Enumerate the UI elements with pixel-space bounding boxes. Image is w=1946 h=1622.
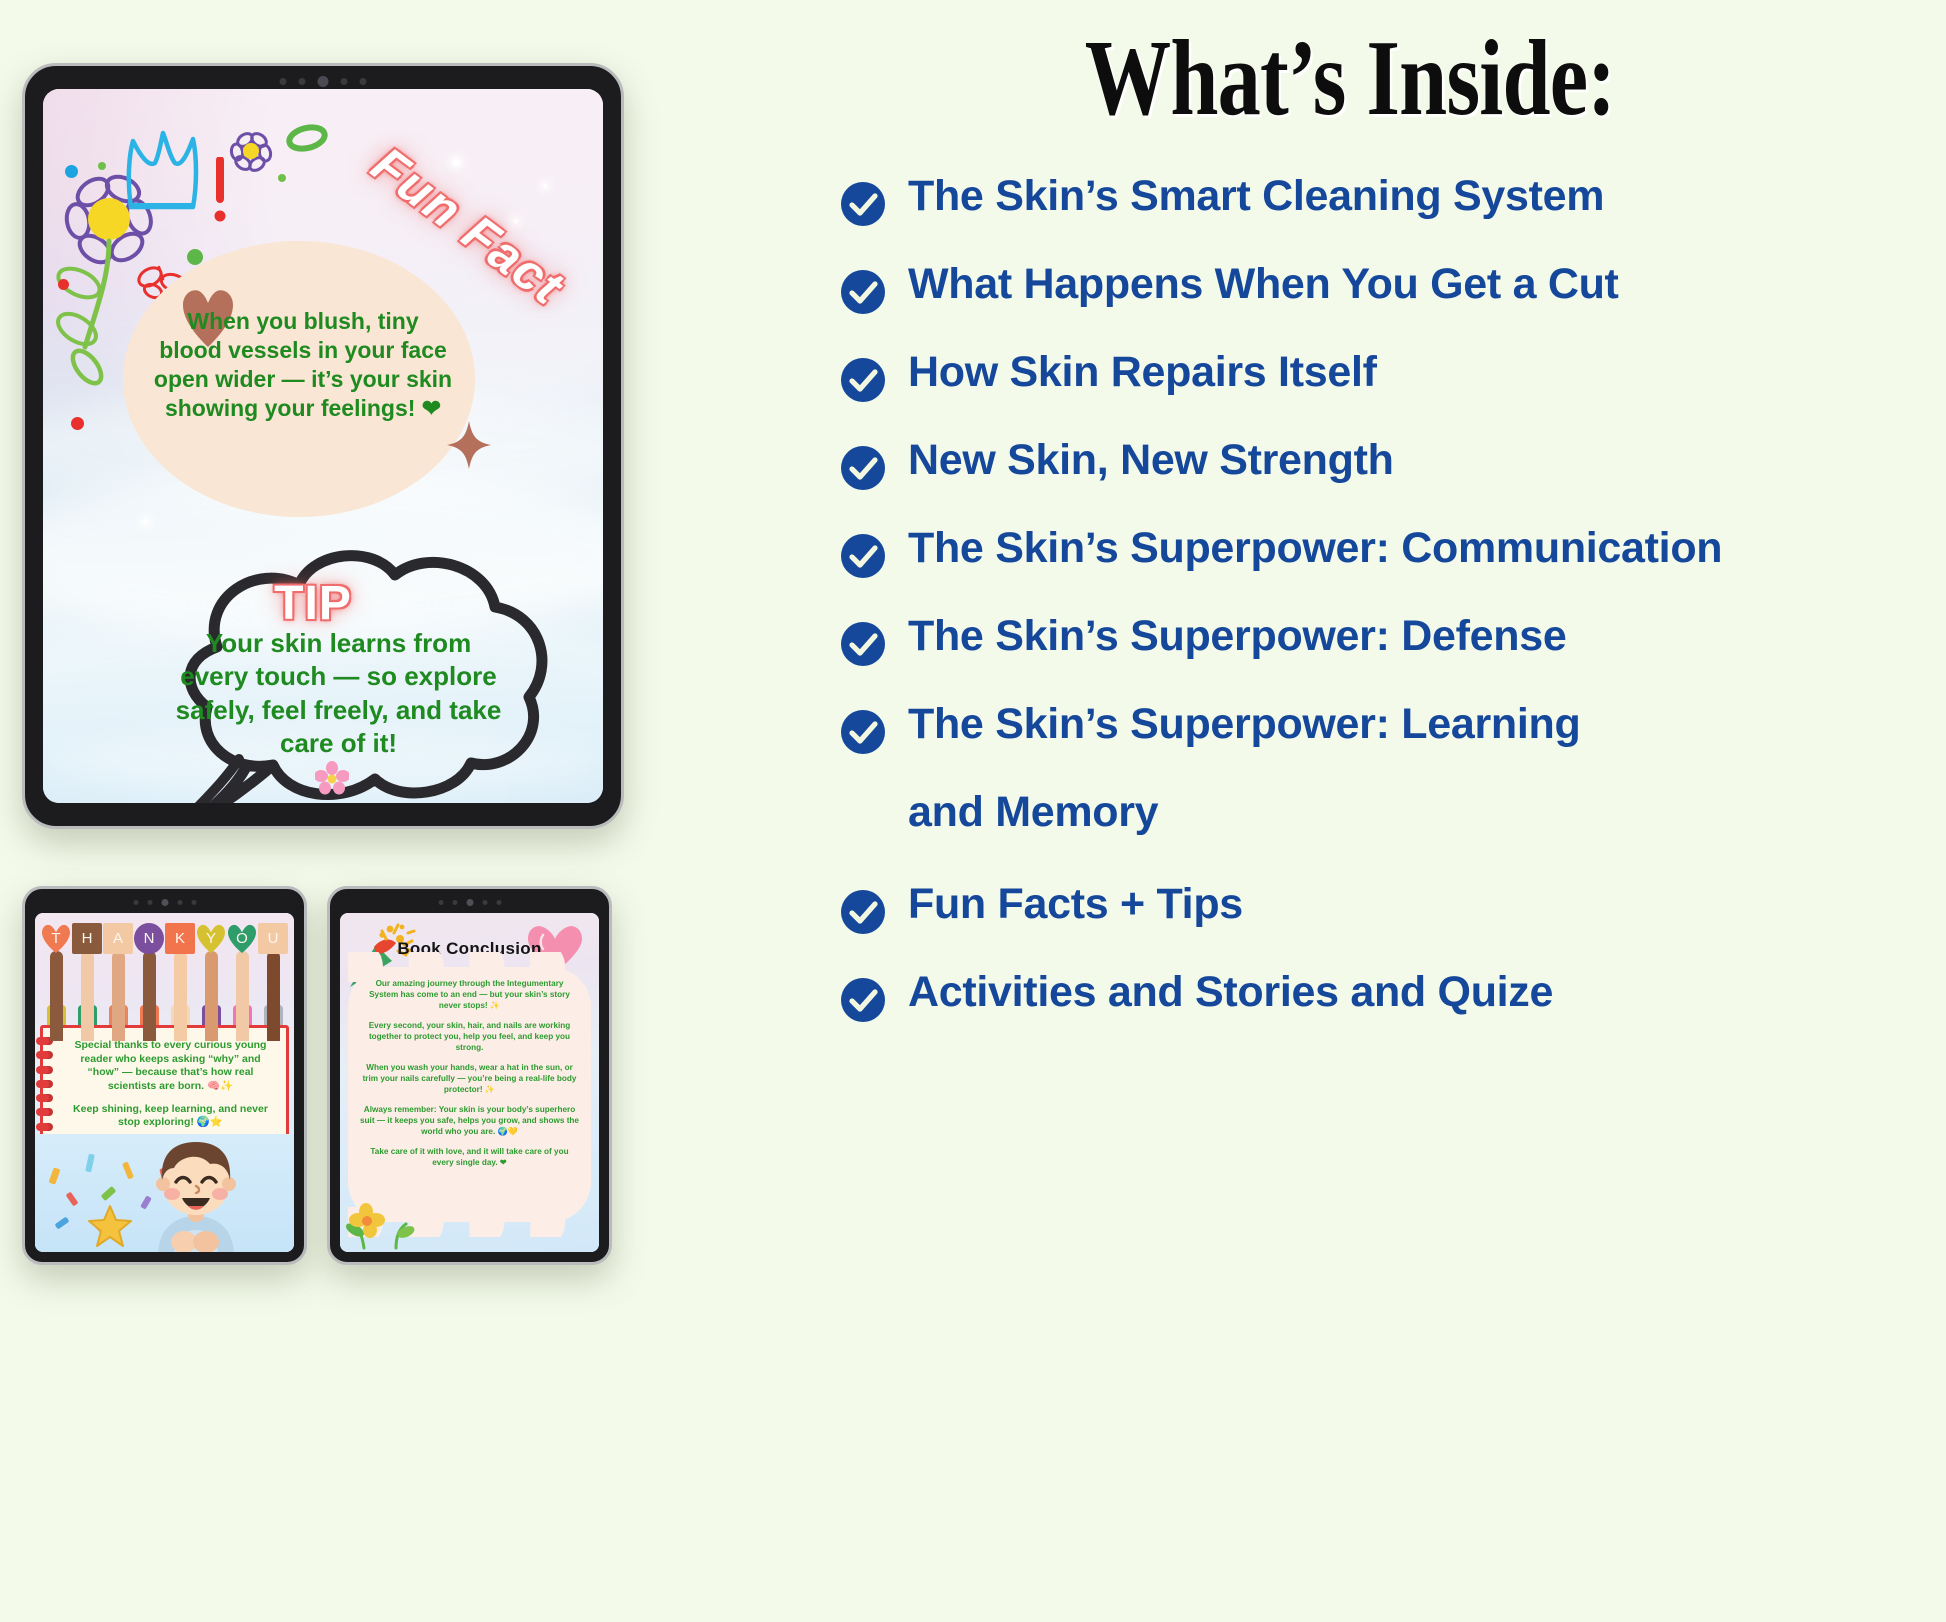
checklist-item-label: The Skin’s Superpower: Learning [908, 700, 1580, 748]
boy-illustration [140, 1138, 252, 1252]
check-circle-icon [840, 181, 886, 227]
thank-you-page: THANKYOU Special thanks to every curious… [35, 913, 294, 1252]
checklist-item[interactable]: The Skin’s Superpower: Learning [840, 700, 1946, 788]
camera-dots-main [280, 76, 367, 87]
checklist-item-label: The Skin’s Superpower: Defense [908, 612, 1566, 660]
letter-sign-circle: N [134, 923, 164, 954]
check-circle-icon [840, 357, 886, 403]
thank-you-letter-card: K [165, 923, 195, 1041]
tablet-device-thank-you: THANKYOU Special thanks to every curious… [22, 886, 307, 1265]
dot-doodle-blue [65, 165, 78, 178]
raised-hand-icon [267, 951, 280, 1041]
letter-sign-heart: O [227, 923, 257, 954]
checklist-item[interactable]: How Skin Repairs Itself [840, 348, 1946, 436]
checklist-item-label: The Skin’s Superpower: Communication [908, 524, 1722, 572]
dot-doodle-red [58, 279, 69, 290]
thank-you-letter-card: U [258, 923, 288, 1041]
blue-crown-doodle [123, 127, 203, 213]
raised-hand-icon [143, 951, 156, 1041]
letter-sign-heart: T [41, 923, 71, 954]
check-circle-icon [840, 889, 886, 935]
checklist-item-label: New Skin, New Strength [908, 436, 1394, 484]
yellow-star-icon [87, 1204, 133, 1248]
page-title: What’s Inside: [934, 22, 1766, 135]
raised-hand-icon [205, 951, 218, 1041]
pink-blossom-doodle [315, 761, 349, 795]
thank-you-note-text: Special thanks to every curious young re… [65, 1039, 276, 1130]
thank-you-letter-card: A [103, 923, 133, 1041]
dot-doodle-red-2 [71, 417, 84, 430]
pencil-squiggle-doodle [473, 795, 543, 803]
checklist-item-label: How Skin Repairs Itself [908, 348, 1377, 396]
check-circle-icon [840, 533, 886, 579]
conclusion-paragraph: Take care of it with love, and it will t… [360, 1147, 579, 1169]
conclusion-paragraph: Always remember: Your skin is your body’… [360, 1105, 579, 1138]
checklist-item[interactable]: Fun Facts + Tips [840, 880, 1946, 968]
checklist-item-label: The Skin’s Smart Cleaning System [908, 172, 1604, 220]
thank-you-paragraph-1: Special thanks to every curious young re… [75, 1039, 267, 1092]
checklist-item[interactable]: New Skin, New Strength [840, 436, 1946, 524]
checklist-item-label: Activities and Stories and Quize [908, 968, 1553, 1016]
tablet-screen-thank-you: THANKYOU Special thanks to every curious… [35, 913, 294, 1252]
raised-hand-icon [236, 951, 249, 1041]
letter-sign-square: K [165, 923, 195, 954]
brown-diamond-doodle [447, 421, 491, 469]
checklist-item-label: Fun Facts + Tips [908, 880, 1243, 928]
check-circle-icon [840, 709, 886, 755]
whats-inside-panel: What’s Inside: The Skin’s Smart Cleaning… [830, 0, 1946, 1622]
letter-sign-square: A [103, 923, 133, 954]
thank-you-hands-row: THANKYOU [35, 919, 294, 1041]
thank-you-letter-card: Y [196, 923, 226, 1041]
dot-doodle-green-3 [278, 174, 286, 182]
dot-doodle-green-2 [187, 249, 203, 265]
poster-root: Fun Fact When you blush, tiny blood vess… [0, 0, 1946, 1622]
camera-dots-conclusion [438, 899, 501, 906]
letter-sign-square: H [72, 923, 102, 954]
check-circle-icon [840, 269, 886, 315]
thank-you-bottom-scene [35, 1134, 294, 1252]
raised-hand-icon [112, 951, 125, 1041]
whats-inside-checklist: The Skin’s Smart Cleaning SystemWhat Hap… [840, 172, 1946, 1056]
check-circle-icon [840, 977, 886, 1023]
thank-you-letter-card: H [72, 923, 102, 1041]
yellow-flower-doodle [344, 1190, 434, 1250]
tablet-screen-conclusion: Book Conclusion Our amazing journey thro… [340, 913, 599, 1252]
book-conclusion-page: Book Conclusion Our amazing journey thro… [340, 913, 599, 1252]
raised-hand-icon [81, 951, 94, 1041]
green-leaf-doodle [286, 124, 328, 152]
dot-doodle-green [98, 162, 106, 170]
tip-body: Your skin learns from every touch — so e… [171, 627, 506, 760]
check-circle-icon [840, 445, 886, 491]
tablet-screen-main: Fun Fact When you blush, tiny blood vess… [43, 89, 603, 803]
raised-hand-icon [174, 951, 187, 1041]
raised-hand-icon [50, 951, 63, 1041]
thank-you-letter-card: O [227, 923, 257, 1041]
checklist-item-wrap: and Memory [840, 788, 1946, 880]
purple-flower-doodle-small [229, 127, 275, 173]
spiral-binding-icon [36, 1034, 54, 1148]
checklist-item[interactable]: Activities and Stories and Quize [840, 968, 1946, 1056]
conclusion-paragraph: Every second, your skin, hair, and nails… [360, 1021, 579, 1054]
green-leaf-doodle-2 [61, 345, 113, 389]
conclusion-paragraph: When you wash your hands, wear a hat in … [360, 1063, 579, 1096]
check-circle-icon [840, 621, 886, 667]
conclusion-paragraph: Our amazing journey through the Integume… [360, 979, 579, 1012]
checklist-item-label: What Happens When You Get a Cut [908, 260, 1619, 308]
letter-sign-square: U [258, 923, 288, 954]
thank-you-letter-card: N [134, 923, 164, 1041]
camera-dots-thanks [133, 899, 196, 906]
fun-fact-tip-page: Fun Fact When you blush, tiny blood vess… [43, 89, 603, 803]
tip-badge: TIP [248, 576, 378, 631]
fun-fact-body: When you blush, tiny blood vessels in yo… [153, 307, 453, 423]
tablet-device-main: Fun Fact When you blush, tiny blood vess… [22, 63, 624, 829]
thank-you-paragraph-2: Keep shining, keep learning, and never s… [73, 1103, 268, 1129]
tablet-device-conclusion: Book Conclusion Our amazing journey thro… [327, 886, 612, 1265]
checklist-item[interactable]: The Skin’s Smart Cleaning System [840, 172, 1946, 260]
thank-you-letter-card: T [41, 923, 71, 1041]
checklist-item[interactable]: The Skin’s Superpower: Defense [840, 612, 1946, 700]
conclusion-body: Our amazing journey through the Integume… [360, 979, 579, 1178]
checklist-item[interactable]: What Happens When You Get a Cut [840, 260, 1946, 348]
checklist-item-label-wrap: and Memory [908, 788, 1158, 836]
letter-sign-heart: Y [196, 923, 226, 954]
checklist-item[interactable]: The Skin’s Superpower: Communication [840, 524, 1946, 612]
